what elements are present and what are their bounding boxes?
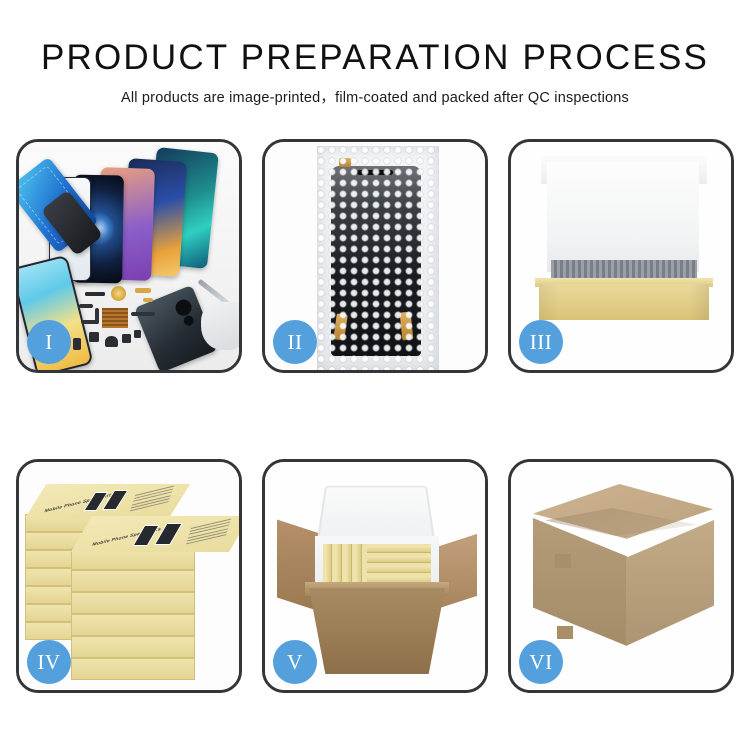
carton-tape-strip	[555, 554, 571, 568]
process-step-panel-5: V	[262, 459, 488, 693]
bubble-wrap-bag	[317, 146, 439, 370]
gold-connector-component	[143, 298, 153, 302]
box-print-text-lines	[185, 519, 231, 547]
stacked-box	[71, 592, 195, 614]
step-badge-2: II	[273, 320, 317, 364]
gold-connector-component	[135, 288, 151, 293]
process-step-panel-2: II	[262, 139, 488, 373]
process-step-panel-3: III	[508, 139, 734, 373]
box-top-face-front: Mobile Phone Spare Parts	[71, 516, 239, 552]
packed-box-vertical	[345, 544, 352, 586]
carton-left-face	[533, 518, 627, 646]
step-badge-3: III	[519, 320, 563, 364]
product-preparation-infographic: PRODUCT PREPARATION PROCESS All products…	[0, 0, 750, 750]
flex-cable-component	[79, 304, 93, 308]
process-step-panel-6: VI	[508, 459, 734, 693]
carton-body	[309, 588, 445, 674]
step-badge-1: I	[27, 320, 71, 364]
box-print-text-lines	[129, 486, 174, 514]
carton-right-face	[626, 520, 714, 646]
packed-box-horizontal	[367, 546, 431, 553]
chip-component	[89, 332, 99, 342]
step-badge-5: V	[273, 640, 317, 684]
stacked-box	[71, 614, 195, 636]
flex-cable-component	[131, 312, 155, 316]
chip-component	[122, 334, 131, 343]
copper-shield-component	[102, 308, 128, 328]
chip-component	[85, 292, 105, 296]
process-step-panel-4: Mobile Phone Spare Parts	[16, 459, 242, 693]
packed-box-vertical	[325, 544, 332, 586]
packed-box-horizontal	[367, 556, 431, 563]
kraft-box-front	[539, 284, 709, 320]
chip-component	[73, 338, 81, 350]
packed-box-vertical	[355, 544, 362, 586]
step-badge-6: VI	[519, 640, 563, 684]
process-step-grid: I II III	[16, 139, 734, 693]
stacked-box	[71, 636, 195, 658]
packed-box-horizontal	[367, 566, 431, 573]
box-top-face-rear: Mobile Phone Spare Parts	[25, 484, 190, 518]
page-title: PRODUCT PREPARATION PROCESS	[0, 40, 750, 77]
packed-box-vertical	[335, 544, 342, 586]
chip-component	[105, 336, 118, 347]
stacked-box	[71, 658, 195, 680]
flex-cable-component	[95, 308, 99, 324]
bubble-texture	[317, 146, 439, 370]
packed-boxes-inside	[323, 544, 431, 586]
header: PRODUCT PREPARATION PROCESS All products…	[0, 0, 750, 107]
step-badge-4: IV	[27, 640, 71, 684]
stacked-box	[71, 570, 195, 592]
chip-component	[134, 330, 141, 338]
process-step-panel-1: I	[16, 139, 242, 373]
technician-hand	[201, 302, 239, 350]
carton-tape-strip	[557, 626, 573, 639]
speaker-coil-component	[111, 286, 126, 301]
page-subtitle: All products are image-printed，film-coat…	[0, 86, 750, 107]
white-foam-lining	[547, 162, 699, 272]
